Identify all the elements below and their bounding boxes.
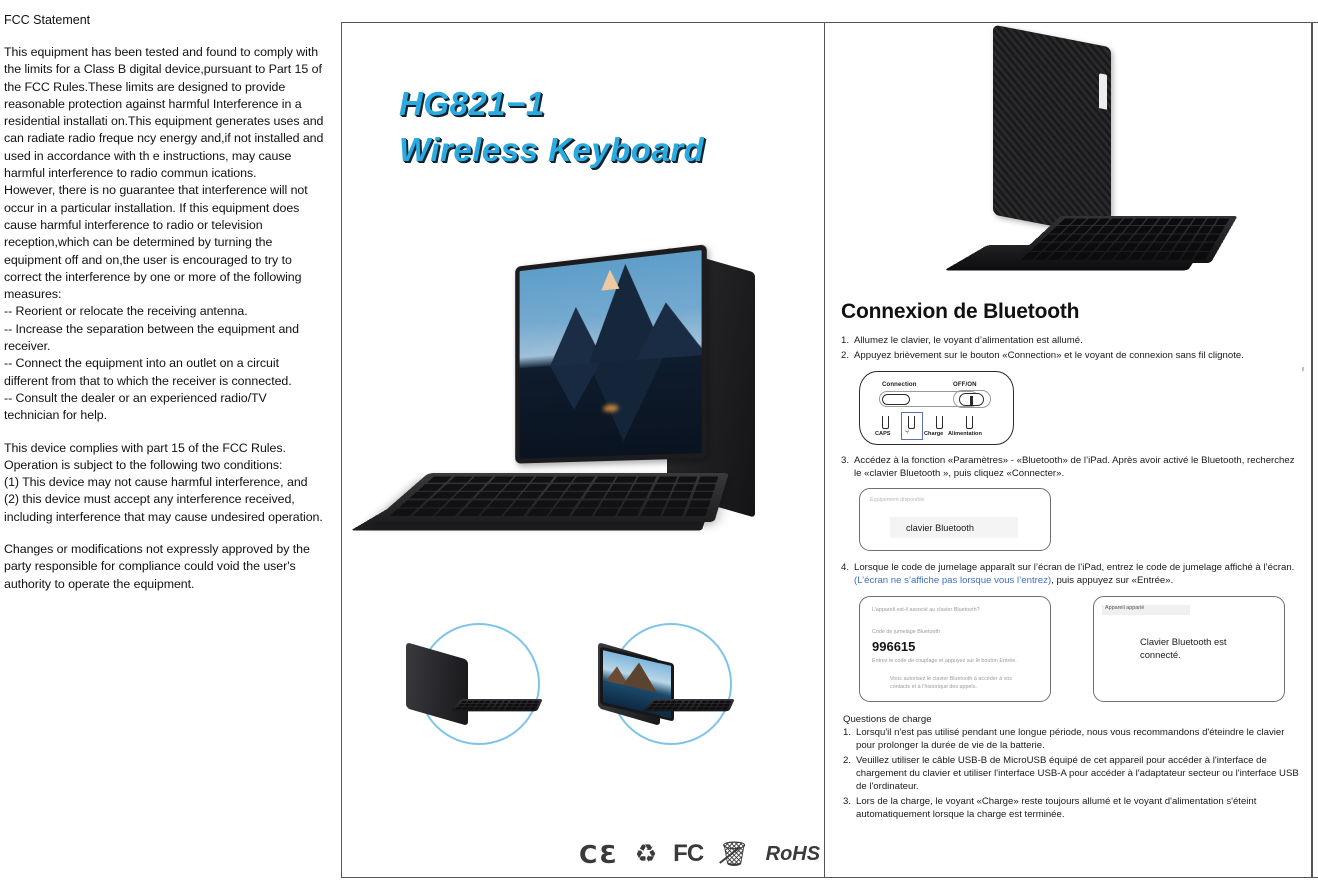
next-page-edge-mark: ı xyxy=(1302,366,1304,373)
bluetooth-instructions-content: Connexion de Bluetooth 1. Allumez le cla… xyxy=(841,30,1301,823)
charge-item-1: 1. Lorsqu'il n'est pas utilisé pendant u… xyxy=(843,726,1301,752)
bt-step-3: 3. Accédez à la fonction «Paramètres» - … xyxy=(841,454,1301,480)
step-number: 4. xyxy=(841,561,854,587)
offon-switch-label: OFF/ON xyxy=(953,381,977,388)
paired-confirmation-dialog: Appareil apparié Clavier Bluetooth est c… xyxy=(1093,596,1285,702)
cover-title-block: HG821−1 Wireless Keyboard xyxy=(399,81,779,173)
bluetooth-section-heading: Connexion de Bluetooth xyxy=(841,300,1301,324)
pairing-code-label: Code de jumelage Bluetooth xyxy=(872,629,940,635)
step-number: 3. xyxy=(841,454,854,480)
water-reflection xyxy=(520,356,702,459)
mini-case-closed xyxy=(404,651,554,729)
charging-heading: Questions de charge xyxy=(843,714,1301,725)
step-number: 2. xyxy=(841,349,854,362)
product-model-title: HG821−1 xyxy=(399,81,779,127)
step4-note: (L’écran ne s’affiche pas lorsque vous l… xyxy=(854,575,1051,586)
fcc-statement-column: FCC Statement This equipment has been te… xyxy=(0,0,330,892)
fc-mark-icon: FC xyxy=(673,840,703,868)
bluetooth-glyph-icon: ⑂ xyxy=(905,429,909,436)
step-text: Allumez le clavier, le voyant d’alimenta… xyxy=(854,334,1301,347)
offon-switch-icon[interactable] xyxy=(959,393,984,406)
pairing-code-dialog: L’appareil est-il associé au clavier Blu… xyxy=(859,596,1051,702)
item-number: 1. xyxy=(843,726,856,752)
fcc-paragraph: This equipment has been tested and found… xyxy=(4,44,324,425)
pairing-dialogs-row: L’appareil est-il associé au clavier Blu… xyxy=(859,596,1301,702)
step4-part-a: Lorsque le code de jumelage apparaît sur… xyxy=(854,562,1294,573)
ce-mark-icon: CƐ xyxy=(579,840,619,869)
power-led-label: Alimentation xyxy=(948,431,982,437)
keyboard-keys xyxy=(389,476,718,516)
recycle-mark-icon: ♻ xyxy=(635,839,657,869)
case-lid-textured xyxy=(993,25,1111,238)
paired-message: Clavier Bluetooth est connecté. xyxy=(1140,635,1260,661)
step-text: Accédez à la fonction «Paramètres» - «Bl… xyxy=(854,454,1301,480)
device-list-item[interactable]: clavier Bluetooth xyxy=(890,517,1018,538)
charge-item-2: 2. Veuillez utiliser le câble USB-B de M… xyxy=(843,754,1301,793)
paired-header: Appareil apparié xyxy=(1102,605,1190,615)
keyboard-case-photo xyxy=(841,30,1301,292)
charge-led-icon xyxy=(936,416,943,429)
pairing-instruction: Entrez le code de couplage et appuyez su… xyxy=(872,657,1022,665)
item-text: Lors de la charge, le voyant «Charge» re… xyxy=(856,795,1301,821)
step4-part-b: , puis appuyez sur «Entrée». xyxy=(1051,575,1173,586)
item-text: Lorsqu'il n'est pas utilisé pendant une … xyxy=(856,726,1301,752)
case-lid xyxy=(406,642,468,726)
item-text: Veuillez utiliser le câble USB-B de Micr… xyxy=(856,754,1301,793)
step-text: Appuyez brièvement sur le bouton «Connec… xyxy=(854,349,1301,362)
mini-keyboard xyxy=(451,699,543,711)
tablet-screen xyxy=(515,244,707,463)
available-devices-mock: Équipement disponible clavier Bluetooth xyxy=(859,488,1051,551)
charging-questions-section: Questions de charge 1. Lorsqu'il n'est p… xyxy=(843,714,1301,821)
connection-button-label: Connection xyxy=(882,381,917,388)
available-devices-label: Équipement disponible xyxy=(870,497,925,503)
keyboard-base xyxy=(372,473,729,522)
bt-step-1: 1. Allumez le clavier, le voyant d’alime… xyxy=(841,334,1301,347)
rohs-mark-icon: RoHS xyxy=(766,843,820,866)
power-led-icon xyxy=(966,416,973,429)
item-number: 2. xyxy=(843,754,856,793)
next-page-sheet-edge xyxy=(1312,22,1318,878)
cover-page-sheet: HG821−1 Wireless Keyboard xyxy=(341,22,825,878)
certification-logos: CƐ ♻ FC 🗑 RoHS xyxy=(579,839,820,869)
step-text: Lorsque le code de jumelage apparaît sur… xyxy=(854,561,1301,587)
product-circle-shot-open xyxy=(610,623,732,745)
mountain-shape xyxy=(636,299,706,360)
step-number: 1. xyxy=(841,334,854,347)
weee-bin-icon: 🗑 xyxy=(719,840,749,869)
mini-case-open xyxy=(596,651,746,729)
pairing-code-value: 996615 xyxy=(872,639,915,654)
fcc-heading: FCC Statement xyxy=(4,12,324,29)
fcc-paragraph: Changes or modifications not expressly a… xyxy=(4,541,324,593)
mini-keyboard xyxy=(643,699,735,711)
caps-led-icon xyxy=(882,416,889,429)
item-number: 3. xyxy=(843,795,856,821)
hero-product-image xyxy=(367,238,797,583)
charge-led-label: Charge xyxy=(924,431,943,437)
pairing-permission: Vous autorisez le clavier Bluetooth à ac… xyxy=(890,675,1030,691)
keyboard-control-panel-diagram: Connection OFF/ON ⑂ CAPS Charge Alimenta… xyxy=(859,371,1014,445)
mountain-reflection xyxy=(550,363,600,411)
caps-led-label: CAPS xyxy=(875,431,891,437)
snow-peak-shape xyxy=(602,269,620,291)
charge-item-3: 3. Lors de la charge, le voyant «Charge»… xyxy=(843,795,1301,821)
product-type-title: Wireless Keyboard xyxy=(399,127,779,173)
bt-step-2: 2. Appuyez brièvement sur le bouton «Con… xyxy=(841,349,1301,362)
product-circle-shot-stand xyxy=(418,623,540,745)
pairing-question: L’appareil est-il associé au clavier Blu… xyxy=(872,607,980,613)
bt-step-4: 4. Lorsque le code de jumelage apparaît … xyxy=(841,561,1301,587)
fcc-paragraph: This device complies with part 15 of the… xyxy=(4,440,324,526)
connection-button-icon[interactable] xyxy=(882,394,910,405)
